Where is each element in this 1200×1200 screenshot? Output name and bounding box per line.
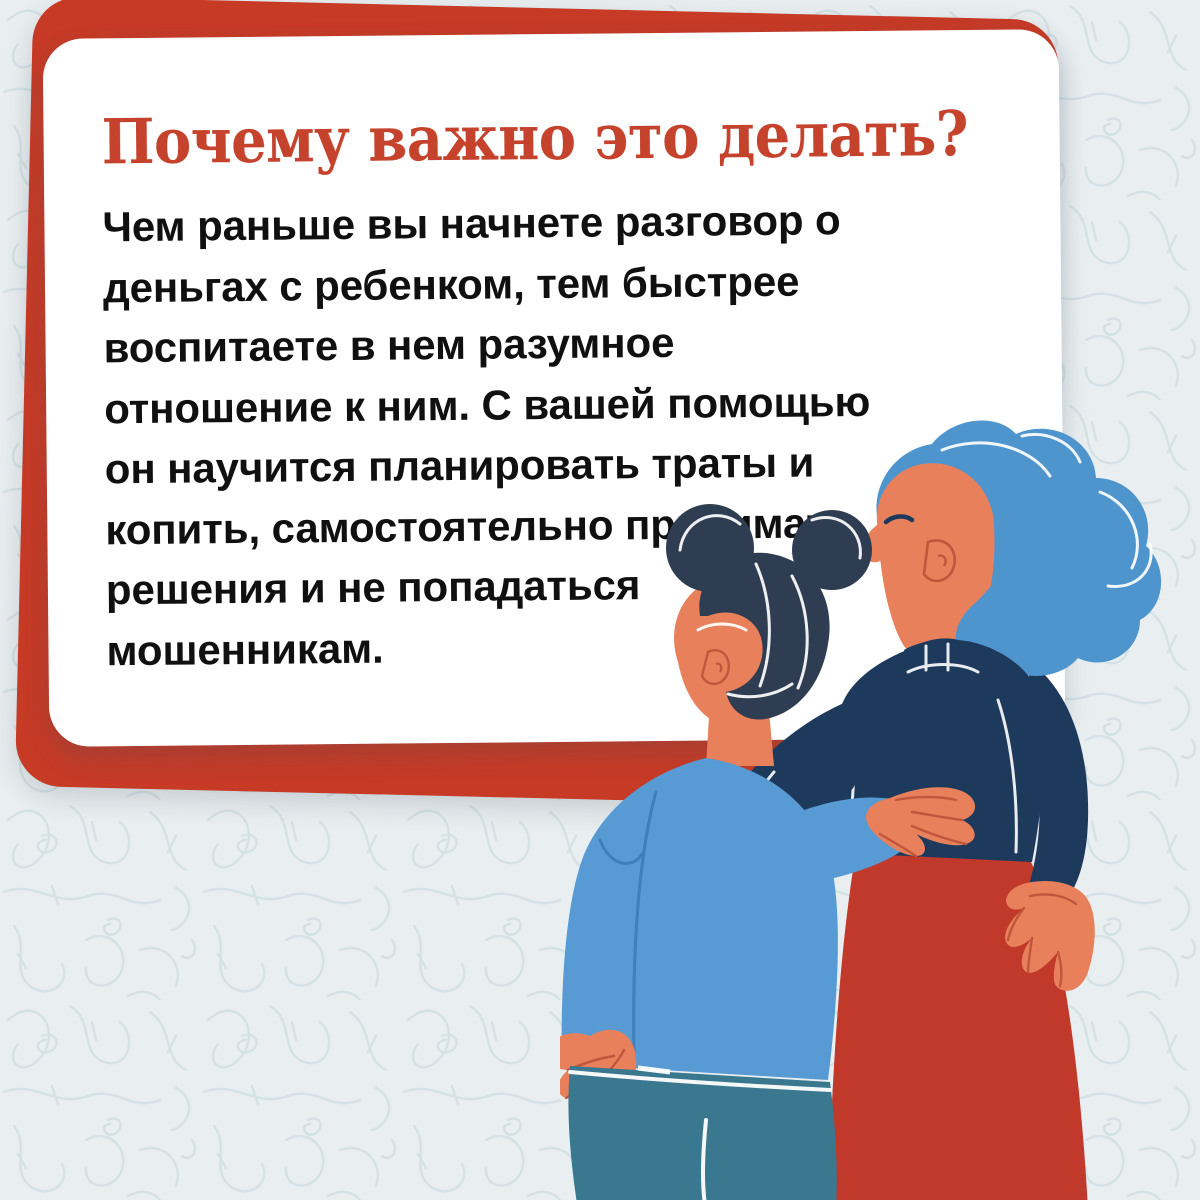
card-content: Почему важно это делать? Чем раньше вы н… (101, 102, 986, 681)
poster-canvas: Почему важно это делать? Чем раньше вы н… (0, 0, 1200, 1200)
body-text: Чем раньше вы начнете разговор о деньгах… (102, 190, 897, 681)
page-title: Почему важно это делать? (101, 103, 894, 174)
content-card: Почему важно это делать? Чем раньше вы н… (43, 29, 1066, 747)
